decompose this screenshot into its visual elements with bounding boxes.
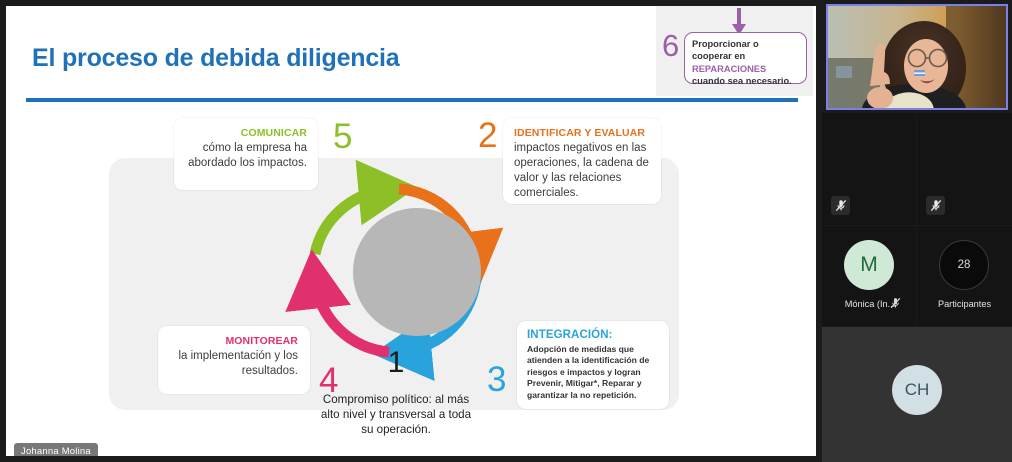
- callout-reparaciones: Proporcionar o cooperar en REPARACIONES …: [684, 32, 807, 84]
- callout-reparaciones-body: Proporcionar o cooperar en REPARACIONES …: [692, 38, 799, 88]
- mic-muted-icon: [831, 196, 850, 215]
- step-number-4: 4: [319, 363, 338, 398]
- reparaciones-text-pre: Proporcionar o cooperar en: [692, 39, 759, 61]
- cycle-center: 1 Compromiso político: al más alto nivel…: [301, 156, 491, 386]
- participant-tile-ch[interactable]: CH: [822, 327, 1012, 462]
- callout-comunicar-body: cómo la empresa ha abordado los impactos…: [183, 141, 307, 171]
- callout-identificar-body: impactos negativos en las operaciones, l…: [514, 141, 651, 201]
- callout-integracion: INTEGRACIÓN: Adopción de medidas que ati…: [517, 321, 669, 409]
- participant-tile-2[interactable]: [917, 113, 1012, 225]
- callout-reparaciones-panel: 6 Proporcionar o cooperar en REPARACIONE…: [656, 6, 813, 96]
- participant-tile-1[interactable]: [822, 113, 916, 225]
- mic-muted-icon: [890, 296, 901, 314]
- reparaciones-keyword: REPARACIONES: [692, 64, 766, 74]
- active-speaker-tile[interactable]: [826, 4, 1008, 110]
- meeting-window: El proceso de debida diligencia: [0, 0, 1012, 462]
- step-number-6: 6: [662, 28, 679, 64]
- step-number-2: 2: [478, 118, 497, 153]
- avatar: M: [844, 240, 894, 290]
- participant-rail: M Mónica (In... 28 Participantes CH: [822, 0, 1012, 462]
- participant-name-monica: Mónica (In...: [822, 299, 916, 309]
- page-title: El proceso de debida diligencia: [32, 44, 400, 73]
- callout-monitorear: MONITOREAR la implementación y los resul…: [158, 326, 310, 394]
- presentation-slide: El proceso de debida diligencia: [6, 6, 816, 456]
- webcam-video: [828, 6, 1006, 108]
- callout-identificar-head: IDENTIFICAR Y EVALUAR: [514, 127, 651, 139]
- avatar: CH: [892, 365, 942, 415]
- callout-integracion-head: INTEGRACIÓN:: [527, 329, 660, 341]
- presenter-name-chip: Johanna Molina: [14, 443, 98, 456]
- step-number-3: 3: [487, 362, 506, 397]
- screen-share-area[interactable]: El proceso de debida diligencia: [0, 0, 822, 462]
- mic-muted-icon: [926, 196, 945, 215]
- callout-comunicar: COMUNICAR cómo la empresa ha abordado lo…: [174, 118, 318, 190]
- participant-tile-monica[interactable]: M Mónica (In...: [822, 226, 916, 326]
- center-disc: [353, 208, 481, 336]
- step-number-5: 5: [333, 119, 352, 154]
- center-step-text: Compromiso político: al más alto nivel y…: [315, 392, 477, 437]
- reparaciones-text-post: cuando sea necesario.: [692, 76, 792, 86]
- callout-monitorear-head: MONITOREAR: [167, 335, 298, 347]
- callout-integracion-body: Adopción de medidas que atienden a la id…: [527, 344, 660, 401]
- participants-count-badge: 28: [939, 240, 989, 290]
- participants-label: Participantes: [917, 299, 1012, 309]
- callout-comunicar-head: COMUNICAR: [183, 127, 307, 139]
- callout-monitorear-body: la implementación y los resultados.: [167, 349, 298, 379]
- callout-identificar: IDENTIFICAR Y EVALUAR impactos negativos…: [503, 118, 661, 204]
- title-divider: [26, 98, 798, 102]
- participants-count-tile[interactable]: 28 Participantes: [917, 226, 1012, 326]
